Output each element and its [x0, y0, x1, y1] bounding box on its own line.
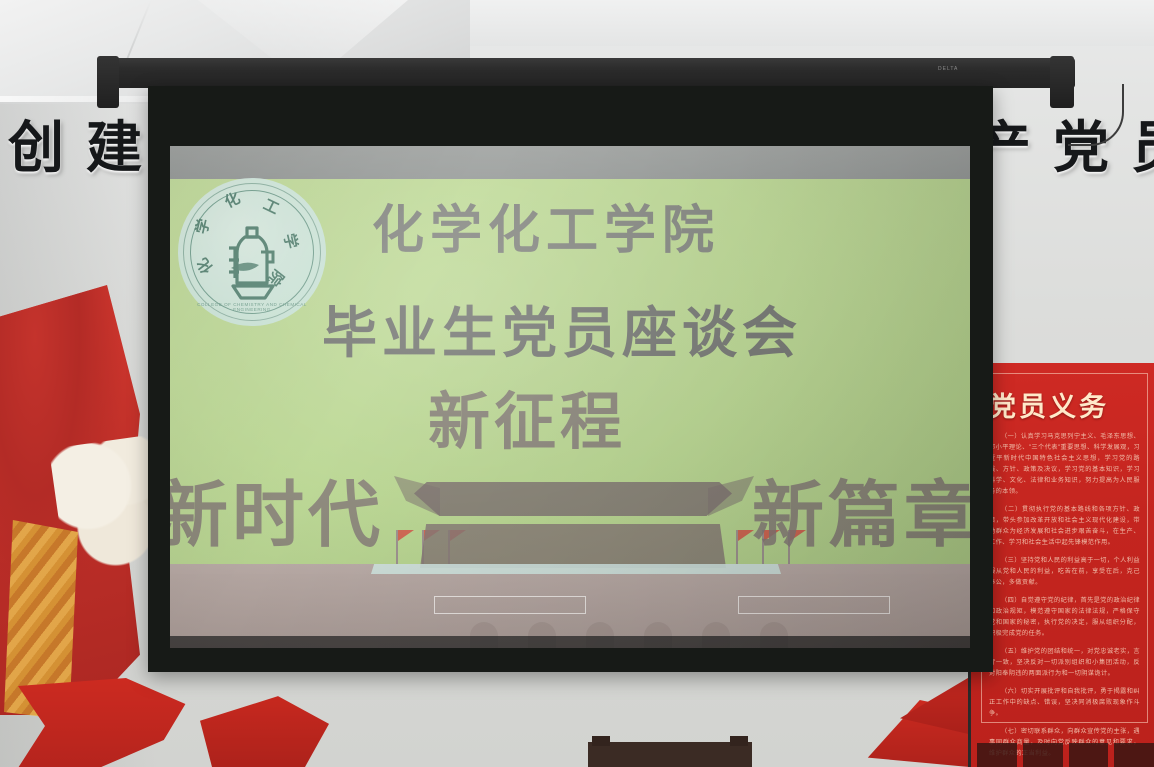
poster-tab [977, 743, 1017, 767]
slide-title-line1: 化学化工学院 [372, 188, 720, 263]
poster-paragraph: （二）贯彻执行党的基本路线和各项方针、政策，带头参加改革开放和社会主义现代化建设… [989, 504, 1140, 548]
projection-screen-surface: 化学化工学院 COLLEGE OF CHEMISTRY AND CHEMICAL… [170, 146, 970, 648]
poster-title: 党员义务 [989, 385, 1109, 424]
emblem-subtext: COLLEGE OF CHEMISTRY AND CHEMICAL ENGINE… [178, 302, 326, 312]
poster-body-text: （一）认真学习马克思列宁主义、毛泽东思想、邓小平理论、"三个代表"重要思想、科学… [989, 431, 1140, 767]
projector-brand-label: DELTA [938, 66, 958, 72]
wall-slogan-right: 产党员 [975, 120, 1154, 176]
flag-icon [736, 530, 738, 564]
poster-tab [1023, 743, 1063, 767]
college-emblem: 化学化工学院 COLLEGE OF CHEMISTRY AND CHEMICAL… [178, 178, 326, 326]
emblem-ring-char: 学 [190, 217, 214, 236]
poster-paragraph: （五）维护党的团结和统一，对党忠诚老实，言行一致，坚决反对一切派别组织和小集团活… [989, 646, 1140, 679]
slide-subtitle-left: 新时代 [170, 456, 384, 561]
wall-slogan-left: 创建 [8, 120, 164, 176]
slide-bottom-shadow [170, 636, 970, 648]
emblem-ring-char: 工 [260, 193, 283, 218]
flag-icon [396, 530, 398, 564]
gate-upper-body [420, 524, 726, 568]
poster-paragraph: （四）自觉遵守党的纪律，首先是党的政治纪律和政治规矩，模范遵守国家的法律法规，严… [989, 595, 1140, 639]
party-member-duties-poster: 党员义务 （一）认真学习马克思列宁主义、毛泽东思想、邓小平理论、"三个代表"重要… [968, 363, 1154, 767]
poster-paragraph: （六）切实开展批评和自我批评，勇于揭露和纠正工作中的缺点、错误，坚决同消极腐败现… [989, 686, 1140, 719]
projector-screen-roller-casing [97, 58, 1075, 88]
poster-bottom-tabs [977, 737, 1154, 767]
emblem-ring-char: 化 [221, 187, 244, 212]
meeting-room-photo: 创建 产党员 党员义务 （一）认真学习马克思列宁主义、毛泽东思想、邓小平理论、"… [0, 0, 1154, 767]
slide-title-line2: 毕业生党员座谈会 [322, 288, 802, 368]
roller-bracket-left [97, 56, 119, 108]
chair-backrest [588, 736, 752, 767]
slide-subtitle-right: 新篇章 [752, 456, 970, 561]
gate-banner-right [738, 596, 890, 614]
poster-paragraph: （三）坚持党和人民的利益高于一切，个人利益服从党和人民的利益，吃苦在前，享受在后… [989, 555, 1140, 588]
emblem-ring-char: 化 [192, 254, 218, 279]
flask-icon [221, 224, 283, 300]
slide-top-band [170, 146, 970, 179]
gate-banner-left [434, 596, 586, 614]
poster-tab [1114, 743, 1154, 767]
gate-roof [414, 482, 732, 516]
poster-paragraph: （一）认真学习马克思列宁主义、毛泽东思想、邓小平理论、"三个代表"重要思想、科学… [989, 431, 1140, 497]
poster-tab [1069, 743, 1109, 767]
ceiling-right [470, 0, 1154, 46]
